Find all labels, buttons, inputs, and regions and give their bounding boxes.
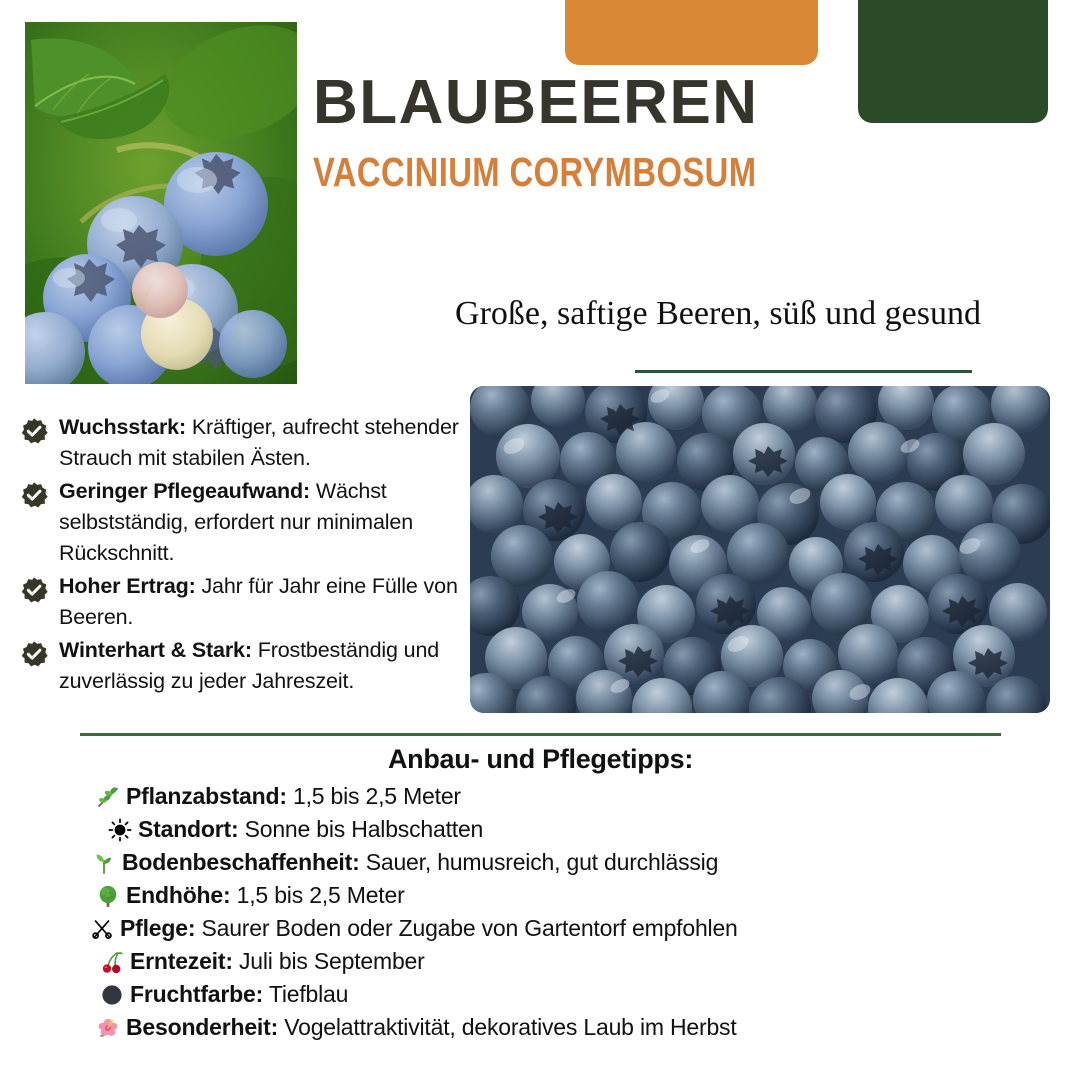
list-item: Pflanzabstand: 1,5 bis 2,5 Meter bbox=[0, 780, 1080, 813]
feature-text: Wuchsstark: Kräftiger, aufrecht stehende… bbox=[59, 412, 480, 474]
feature-text: Winterhart & Stark: Frostbeständig und z… bbox=[59, 635, 480, 697]
decorative-green-rectangle bbox=[858, 0, 1048, 123]
hibiscus-icon bbox=[96, 1016, 120, 1040]
feature-label: Wuchsstark: bbox=[59, 415, 186, 439]
tip-value: Sonne bis Halbschatten bbox=[238, 816, 483, 842]
sun-icon bbox=[108, 818, 132, 842]
herb-icon bbox=[96, 785, 120, 809]
feature-label: Hoher Ertrag: bbox=[59, 574, 196, 598]
tip-value: Vogelattraktivität, dekoratives Laub im … bbox=[278, 1014, 737, 1040]
tip-text: Besonderheit: Vogelattraktivität, dekora… bbox=[126, 1011, 737, 1044]
tip-label: Bodenbeschaffenheit: bbox=[122, 849, 360, 875]
harvested-blueberries-photo bbox=[470, 386, 1050, 713]
tip-text: Standort: Sonne bis Halbschatten bbox=[138, 813, 483, 846]
tagline: Große, saftige Beeren, süß und gesund bbox=[420, 294, 1016, 335]
list-item: Besonderheit: Vogelattraktivität, dekora… bbox=[0, 1011, 1080, 1044]
decorative-orange-rectangle bbox=[565, 0, 818, 65]
feature-label: Winterhart & Stark: bbox=[59, 638, 252, 662]
dark-circle-icon bbox=[100, 983, 124, 1007]
tip-value: Juli bis September bbox=[233, 948, 425, 974]
tip-label: Standort: bbox=[138, 816, 238, 842]
tips-heading: Anbau- und Pflegetipps: bbox=[80, 744, 1001, 775]
tree-icon bbox=[96, 884, 120, 908]
tip-label: Fruchtfarbe: bbox=[130, 981, 263, 1007]
tip-label: Erntezeit: bbox=[130, 948, 233, 974]
tip-value: 1,5 bis 2,5 Meter bbox=[230, 882, 404, 908]
page-title: BLAUBEEREN bbox=[313, 72, 759, 134]
check-badge-icon bbox=[20, 640, 48, 668]
list-item: Standort: Sonne bis Halbschatten bbox=[0, 813, 1080, 846]
seedling-icon bbox=[92, 851, 116, 875]
list-item: Pflege: Saurer Boden oder Zugabe von Gar… bbox=[0, 912, 1080, 945]
feature-label: Geringer Pflegeaufwand: bbox=[59, 479, 310, 503]
tip-value: 1,5 bis 2,5 Meter bbox=[287, 783, 461, 809]
list-item: Geringer Pflegeaufwand: Wächst selbststä… bbox=[20, 476, 480, 569]
tip-value: Sauer, humusreich, gut durchlässig bbox=[360, 849, 719, 875]
tip-value: Tiefblau bbox=[263, 981, 348, 1007]
check-badge-icon bbox=[20, 576, 48, 604]
tip-text: Bodenbeschaffenheit: Sauer, humusreich, … bbox=[122, 846, 718, 879]
hero-blueberry-bush-photo bbox=[25, 22, 297, 384]
tip-value: Saurer Boden oder Zugabe von Gartentorf … bbox=[195, 915, 737, 941]
tip-label: Endhöhe: bbox=[126, 882, 230, 908]
feature-list: Wuchsstark: Kräftiger, aufrecht stehende… bbox=[20, 412, 480, 699]
list-item: Erntezeit: Juli bis September bbox=[0, 945, 1080, 978]
feature-text: Hoher Ertrag: Jahr für Jahr eine Fülle v… bbox=[59, 571, 480, 633]
tip-text: Pflanzabstand: 1,5 bis 2,5 Meter bbox=[126, 780, 461, 813]
feature-text: Geringer Pflegeaufwand: Wächst selbststä… bbox=[59, 476, 480, 569]
tip-text: Endhöhe: 1,5 bis 2,5 Meter bbox=[126, 879, 405, 912]
tip-text: Fruchtfarbe: Tiefblau bbox=[130, 978, 348, 1011]
list-item: Bodenbeschaffenheit: Sauer, humusreich, … bbox=[0, 846, 1080, 879]
cherries-icon bbox=[100, 950, 124, 974]
infographic-canvas: BLAUBEEREN VACCINIUM CORYMBOSUM Große, s… bbox=[0, 0, 1080, 1080]
tip-label: Besonderheit: bbox=[126, 1014, 278, 1040]
tips-divider bbox=[80, 733, 1001, 736]
list-item: Hoher Ertrag: Jahr für Jahr eine Fülle v… bbox=[20, 571, 480, 633]
check-badge-icon bbox=[20, 481, 48, 509]
tip-text: Pflege: Saurer Boden oder Zugabe von Gar… bbox=[120, 912, 738, 945]
page-subtitle-latin-name: VACCINIUM CORYMBOSUM bbox=[313, 152, 757, 193]
list-item: Fruchtfarbe: Tiefblau bbox=[0, 978, 1080, 1011]
list-item: Endhöhe: 1,5 bis 2,5 Meter bbox=[0, 879, 1080, 912]
tip-label: Pflege: bbox=[120, 915, 195, 941]
tip-text: Erntezeit: Juli bis September bbox=[130, 945, 425, 978]
tagline-divider bbox=[635, 370, 972, 373]
tips-list: Pflanzabstand: 1,5 bis 2,5 Meter Standor… bbox=[0, 780, 1080, 1044]
list-item: Wuchsstark: Kräftiger, aufrecht stehende… bbox=[20, 412, 480, 474]
tip-label: Pflanzabstand: bbox=[126, 783, 287, 809]
scissors-icon bbox=[90, 917, 114, 941]
check-badge-icon bbox=[20, 417, 48, 445]
list-item: Winterhart & Stark: Frostbeständig und z… bbox=[20, 635, 480, 697]
